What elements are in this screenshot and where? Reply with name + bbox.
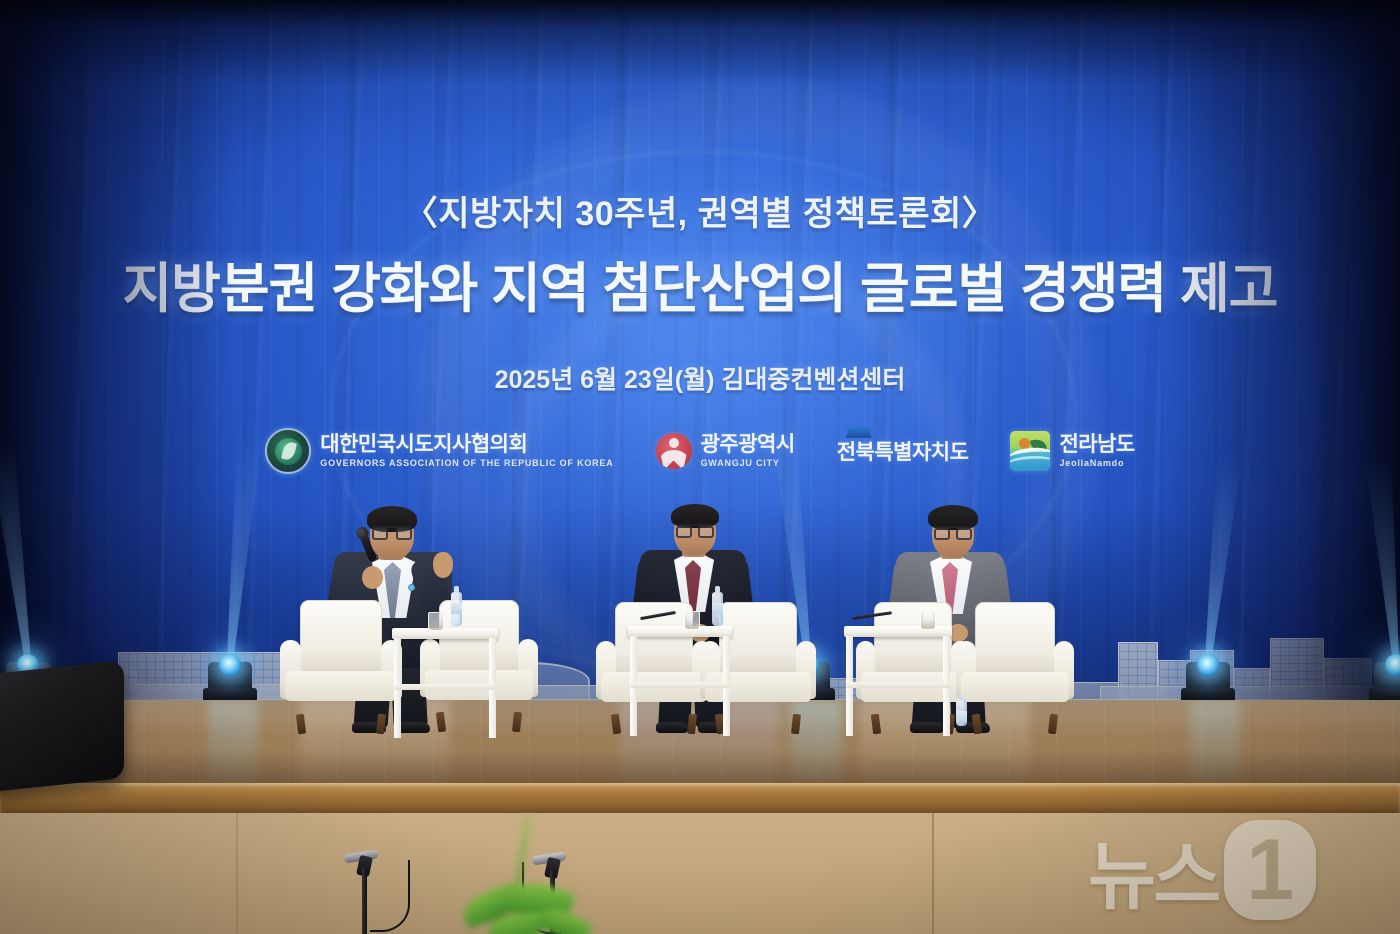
governors-seal-icon xyxy=(265,428,311,474)
microphone-stand-left xyxy=(356,846,416,934)
drinking-glass-center xyxy=(684,611,700,630)
logo-jeonbuk-ko: 전북특별자치도 xyxy=(837,436,969,466)
jeollanamdo-icon xyxy=(1010,431,1050,471)
moving-stage-light-4 xyxy=(1186,648,1230,702)
drinking-glass-left xyxy=(428,612,444,631)
banner-logo-row: 대한민국시도지사협의회 GOVERNORS ASSOCIATION OF THE… xyxy=(0,428,1400,474)
foreground-plant xyxy=(440,862,610,934)
logo-jeollanamdo-en: JeollaNamdo xyxy=(1059,459,1134,468)
water-bottle-left xyxy=(451,592,462,626)
photo-canvas: 〈지방자치 30주년, 권역별 정책토론회〉 지방분권 강화와 지역 첨단산업의… xyxy=(0,0,1400,934)
logo-jeollanamdo-ko: 전라남도 xyxy=(1059,434,1134,455)
logo-governors-association: 대한민국시도지사협의회 GOVERNORS ASSOCIATION OF THE… xyxy=(265,428,613,474)
banner-subject-line: 〈지방자치 30주년, 권역별 정책토론회〉 xyxy=(0,186,1400,235)
side-table-left xyxy=(392,628,498,740)
stage-monitor-speaker xyxy=(0,660,124,794)
logo-governors-en: GOVERNORS ASSOCIATION OF THE REPUBLIC OF… xyxy=(320,459,613,468)
moving-stage-light-2 xyxy=(208,648,252,702)
drinking-glass-right xyxy=(920,611,936,630)
logo-governors-ko: 대한민국시도지사협의회 xyxy=(320,434,613,455)
news1-watermark: 뉴스 xyxy=(1088,816,1388,924)
side-table-center xyxy=(628,626,732,738)
water-bottle-center xyxy=(712,592,723,626)
gwangju-city-icon xyxy=(656,433,692,469)
logo-jeollanamdo: 전라남도 JeollaNamdo xyxy=(1010,431,1134,471)
armchair-right-second xyxy=(956,602,1074,718)
armchair-left xyxy=(280,600,402,718)
moving-stage-light-5 xyxy=(1374,648,1400,702)
watermark-logo-icon xyxy=(1224,820,1316,920)
stage-edge-trim xyxy=(0,783,1400,813)
banner-venue-line: 2025년 6월 23일(월) 김대중컨벤션센터 xyxy=(0,360,1400,396)
water-bottle-right-floor xyxy=(956,700,967,726)
side-table-right xyxy=(844,626,952,738)
watermark-text: 뉴스 xyxy=(1088,817,1218,924)
banner-main-title: 지방분권 강화와 지역 첨단산업의 글로벌 경쟁력 제고 xyxy=(0,244,1400,323)
logo-jeonbuk-state: 전북특별자치도 xyxy=(837,436,969,466)
